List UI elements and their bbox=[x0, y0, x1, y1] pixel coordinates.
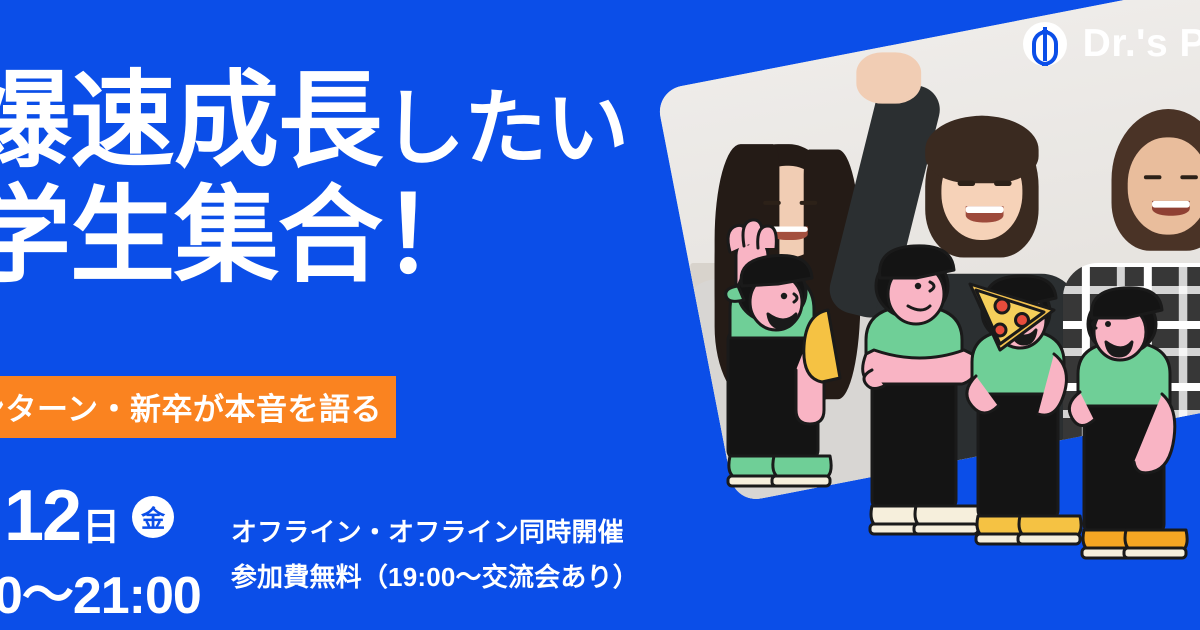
logo-divider-bar bbox=[1043, 27, 1047, 61]
brand-logo[interactable]: Dr.'s P bbox=[1023, 22, 1200, 66]
headline-main-phrase: 爆速成長 bbox=[0, 63, 382, 180]
cartoon-characters-group bbox=[700, 190, 1200, 630]
photo-person-right-eye-left bbox=[1144, 175, 1162, 180]
headline-line-1: 爆速成長したい bbox=[0, 66, 628, 177]
event-day-of-week-badge: 金 bbox=[132, 496, 174, 538]
character-holding-pizza bbox=[967, 276, 1081, 544]
photo-person-center-eye-left bbox=[958, 180, 976, 185]
event-time: 00〜21:00 bbox=[0, 553, 201, 628]
headline-suffix-phrase: したい bbox=[382, 82, 628, 175]
subtitle-badge: ンターン・新卒が本音を語る bbox=[0, 376, 396, 438]
character-arms-crossed bbox=[804, 246, 979, 534]
dp-circle-logo-icon bbox=[1023, 22, 1067, 66]
event-details: 月 12 日 金 00〜21:00 オフライン・オフライン同時開催 参加費無料（… bbox=[0, 482, 639, 628]
brand-name: Dr.'s P bbox=[1083, 22, 1200, 66]
event-fee-line: 参加費無料（19:00〜交流会あり） bbox=[231, 555, 639, 600]
event-format-line: オフライン・オフライン同時開催 bbox=[231, 510, 639, 555]
event-day-number: 12 bbox=[4, 482, 80, 550]
character-smiling-right bbox=[1069, 288, 1187, 558]
headline-line-2: 学生集合！ bbox=[0, 181, 628, 292]
event-date-block: 月 12 日 金 00〜21:00 bbox=[0, 482, 201, 628]
page-title: 爆速成長したい 学生集合！ bbox=[0, 66, 628, 293]
event-date-row: 月 12 日 金 bbox=[0, 482, 201, 551]
event-banner: Dr.'s P 爆速成長したい 学生集合！ ンターン・新卒が本音を語る 月 12… bbox=[0, 0, 1200, 630]
photo-shelf-item-1 bbox=[655, 251, 682, 319]
photo-person-right-eye-right bbox=[1180, 175, 1198, 180]
photo-person-center-fist bbox=[856, 53, 921, 104]
photo-person-center-eye-right bbox=[994, 180, 1012, 185]
event-day-label: 日 bbox=[82, 496, 120, 551]
photo-person-center-fringe bbox=[925, 115, 1038, 183]
event-info-block: オフライン・オフライン同時開催 参加費無料（19:00〜交流会あり） bbox=[231, 482, 639, 599]
